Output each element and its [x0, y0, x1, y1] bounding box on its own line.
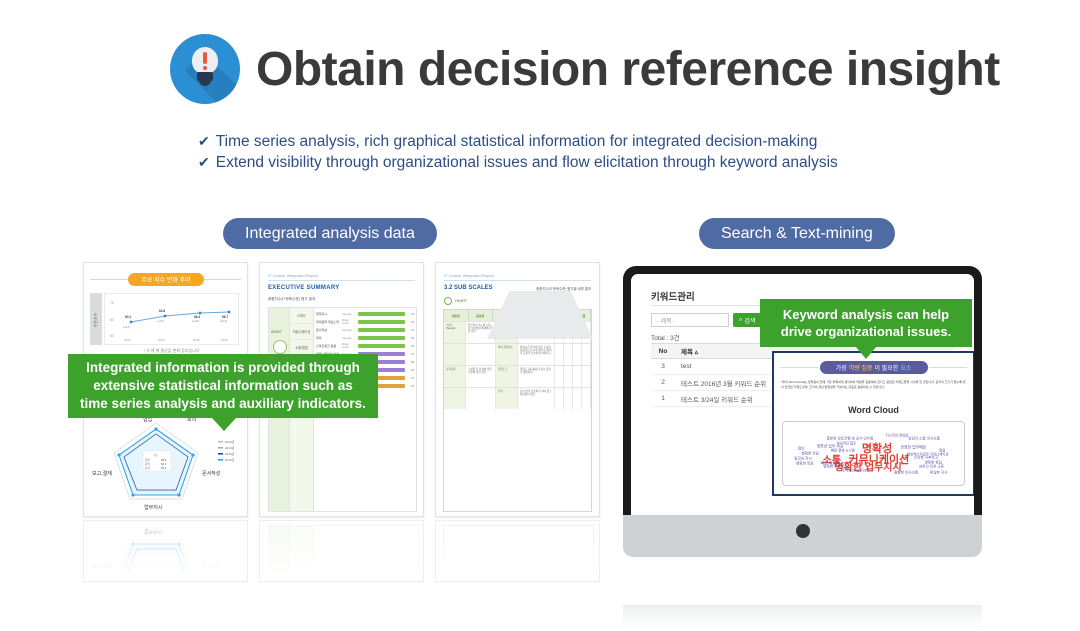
search-input[interactable]: - 제목 -: [651, 313, 729, 327]
table-cell: 구성원 간 신뢰와 협업 수준에 관한 항목: [466, 366, 496, 387]
table-row: 업무지시Strength78: [316, 310, 414, 318]
bullet-text: Extend visibility through organizational…: [216, 152, 838, 173]
doc3-table: 대분류중분류소분류설문문항응답결과가중치 적용 스피드 (Speed)업무처리 …: [443, 309, 592, 512]
badge-label: HEART: [455, 299, 467, 303]
word-cloud-popup: 가장 역량 집중이 필요한 요소 *위의 Word Cloud는 임직원이 현재…: [772, 351, 974, 496]
table-cell: [555, 344, 564, 365]
doc1-y-axis-label: 수준지수: [90, 293, 102, 345]
svg-text:2016년: 2016년: [225, 457, 235, 462]
row-name: 업무지시: [316, 312, 340, 316]
row-value: 69: [407, 337, 414, 340]
popup-description: *위의 Word Cloud는 임직원이 현재 가장 부족하게 생각하여 역량을…: [781, 380, 966, 390]
svg-text:회의: 회의: [145, 462, 150, 466]
callout-tail: [212, 418, 236, 431]
row-bar: [358, 336, 405, 340]
search-button[interactable]: ⌕ 검색: [733, 313, 761, 327]
svg-text:60.1: 60.1: [125, 315, 131, 319]
screen-page-title: 키워드관리: [651, 289, 695, 303]
svg-text:문서작성: 문서작성: [202, 470, 220, 477]
row-bar: [358, 328, 405, 332]
divider: [929, 367, 967, 368]
table-row: 회의Strength69: [316, 334, 414, 342]
row-name: 문서작성: [316, 328, 340, 332]
table-cell: 회의 진행속도: [496, 344, 518, 365]
svg-text:(+4.7): (+4.7): [157, 319, 164, 323]
document-reflection: 주요 지수 변화 추이 수준지수 70 60 50 60.1 64.8 66.4…: [83, 520, 248, 582]
section-label-integrated-analysis-data: Integrated analysis data: [223, 218, 437, 249]
table-cell: [564, 366, 573, 387]
table-cell: 스피드 (Speed): [444, 322, 466, 343]
callout-text: Keyword analysis can help drive organiza…: [768, 306, 964, 340]
check-icon: ✔: [198, 152, 210, 173]
doc3-badge: HEART: [444, 297, 467, 305]
column-header: 중분류: [469, 310, 494, 321]
section-label-search-text-mining: Search & Text-mining: [699, 218, 895, 249]
doc3-right-label: 종합지수(IT문화수준) 평가별 세부 결과: [536, 286, 591, 291]
table-cell: [444, 388, 466, 409]
pill-part: 요소: [900, 363, 911, 372]
row-status: Strength: [342, 337, 356, 340]
badge-circle-icon: [444, 297, 452, 305]
word-cloud-term: 지시자의 책임감: [886, 432, 909, 437]
row-value: 74: [407, 353, 414, 356]
table-cell: 문서 양식 표준화가 되어 있고 재사용이 쉽다: [518, 388, 555, 409]
category-cell: 커뮤니케이션: [290, 324, 313, 340]
lightbulb-alert-icon: [170, 34, 240, 104]
svg-text:60: 60: [110, 318, 114, 322]
table-row: 스마트워크 활용Weak points55: [316, 342, 414, 350]
table-cell: 협업도구를 활용한 정보 공유가 활발하다: [518, 366, 555, 387]
category-cell: 스피드: [290, 308, 313, 324]
exclamation-dot: [203, 66, 207, 70]
y-axis-text: 수준지수: [93, 304, 99, 336]
monitor-logo-dot: [796, 524, 810, 538]
table-row: 문서작성Strength72: [316, 326, 414, 334]
svg-text:문서: 문서: [145, 466, 150, 470]
pill-part: 역량 집중: [849, 363, 873, 372]
table-row: 회의문화 개선노력Weak points61: [316, 318, 414, 326]
list-item: ✔ Time series analysis, rich graphical s…: [198, 131, 838, 152]
table-cell: [564, 388, 573, 409]
callout-tail: [856, 347, 876, 359]
document-reflection: IT Culture Integrated Report 3.2 SUB SCA…: [435, 520, 600, 582]
table-cell: 협업도구: [496, 366, 518, 387]
table-row: 문서문서 양식 표준화가 되어 있고 재사용이 쉽다: [444, 387, 591, 409]
table-cell: 문서: [496, 388, 518, 409]
doc2-title: EXECUTIVE SUMMARY: [268, 285, 340, 291]
table-cell: [564, 344, 573, 365]
svg-text:(+0.3): (+0.3): [220, 319, 227, 323]
svg-text:보고,결재: 보고,결재: [92, 470, 112, 477]
word-cloud-term: 상하간 의견 교류: [919, 465, 944, 470]
svg-text:2014년: 2014년: [225, 445, 235, 450]
row-value: 66: [407, 369, 414, 372]
monitor-reflection: [623, 605, 982, 627]
table-cell: [555, 388, 564, 409]
document-reflection: IT Culture Integrated Report EXECUTIVE S…: [259, 520, 424, 582]
svg-text:58.4: 58.4: [161, 458, 167, 462]
doc3-title: 3.2 SUB SCALES: [444, 285, 493, 291]
svg-text:협업: 협업: [145, 458, 150, 462]
table-cell: [582, 388, 591, 409]
row-value: 52: [407, 385, 414, 388]
search-button-label: 검색: [744, 316, 755, 325]
svg-text:2014: 2014: [158, 338, 165, 342]
row-bar: [358, 320, 405, 324]
total-count-label: Total : 3건: [651, 332, 680, 342]
svg-text:70: 70: [110, 301, 114, 305]
callout-text: Integrated information is provided throu…: [78, 359, 368, 413]
svg-text:(+4.7): (+4.7): [123, 325, 130, 329]
column-header-title-label: 제목: [681, 349, 693, 356]
svg-text:2015년: 2015년: [225, 451, 235, 456]
magnifier-icon: ⌕: [739, 317, 742, 324]
cell-no: 1: [651, 395, 675, 402]
callout-keyword-analysis: Keyword analysis can help drive organiza…: [760, 299, 972, 347]
divider: [90, 279, 130, 280]
row-value: 70: [407, 377, 414, 380]
word-cloud-term: 명확한 목표: [796, 461, 814, 466]
row-value: 72: [407, 329, 414, 332]
svg-text:50: 50: [110, 334, 114, 338]
sort-icon[interactable]: ▵: [695, 349, 698, 356]
list-item: ✔ Extend visibility through organization…: [198, 152, 838, 173]
table-cell: [444, 344, 466, 365]
pill-part: 가장: [836, 363, 847, 372]
svg-text:2016: 2016: [221, 338, 228, 342]
row-status: Weak points: [342, 319, 356, 325]
divider: [780, 367, 818, 368]
popup-title-pill: 가장 역량 집중이 필요한 요소: [820, 361, 928, 374]
svg-text:66.4: 66.4: [194, 315, 200, 319]
column-header-no[interactable]: No: [651, 348, 675, 355]
doc2-group-badge: [273, 340, 287, 354]
row-name: 회의: [316, 336, 340, 340]
reflection-fade: [260, 521, 423, 581]
page-title: Obtain decision reference insight: [256, 42, 1000, 97]
row-value: 78: [407, 313, 414, 316]
word-cloud-title: Word Cloud: [774, 405, 973, 415]
word-cloud-term: 빠른 결재 시스템: [831, 448, 855, 453]
svg-text:2015: 2015: [193, 338, 200, 342]
svg-text:64.8: 64.8: [159, 309, 165, 313]
divider: [201, 279, 241, 280]
doc1-line-chart: 70 60 50 60.1 64.8 66.4 66.7 (+4.7) (+4.…: [104, 293, 239, 345]
svg-text:2013년: 2013년: [225, 439, 235, 444]
doc2-group-label: HEART: [271, 330, 282, 334]
callout-integrated-information: Integrated information is provided throu…: [68, 354, 378, 418]
reflection-fade: [84, 521, 247, 581]
svg-text:구분: 구분: [153, 453, 158, 457]
row-name: 회의문화 개선노력: [316, 320, 340, 324]
word-cloud-term: 원활한 의사소통: [894, 471, 918, 476]
table-cell: [555, 366, 564, 387]
doc2-subtitle: 종합지수(IT문화수준) 평가 결과: [268, 297, 315, 302]
svg-text:60.3: 60.3: [161, 466, 167, 470]
bullet-text: Time series analysis, rich graphical sta…: [216, 131, 818, 152]
table-cell: [582, 344, 591, 365]
column-header: 대분류: [444, 310, 469, 321]
table-cell: [466, 388, 496, 409]
svg-text:62.1: 62.1: [161, 462, 167, 466]
row-bar: [358, 312, 405, 316]
row-bar: [358, 344, 405, 348]
pill-part: 이 필요한: [875, 363, 899, 372]
table-cell: [573, 366, 582, 387]
word-cloud: 명확성커뮤니케이션소통명확한 업무지시지시자의 책임감충분한 검토진행 및 공식…: [782, 421, 965, 486]
table-cell: [573, 344, 582, 365]
row-status: Weak points: [342, 343, 356, 349]
doc1-section-pill: 주요 지수 변화 추이: [128, 273, 204, 286]
table-row: 회의 진행속도회의시간 준수와 결론 도출이 효율적으로 이루어진다 / 회의록…: [444, 343, 591, 365]
row-value: 61: [407, 321, 414, 324]
word-cloud-term: 조직원의 실천의지: [842, 469, 869, 474]
row-value: 55: [407, 345, 414, 348]
row-value: 58: [407, 361, 414, 364]
reflection-fade: [436, 521, 599, 581]
svg-text:66.7: 66.7: [222, 315, 228, 319]
monitor-chin: [623, 515, 982, 557]
table-cell: 조직문화: [444, 366, 466, 387]
check-icon: ✔: [198, 131, 210, 152]
row-status: Strength: [342, 313, 356, 316]
svg-text:2013: 2013: [124, 338, 131, 342]
doc2-breadcrumb: IT Culture Integrated Report: [268, 273, 415, 281]
row-status: Strength: [342, 329, 356, 332]
word-cloud-term: 확실한 지시: [930, 471, 948, 476]
table-cell: 회의시간 준수와 결론 도출이 효율적으로 이루어진다 / 회의록 공유가 신속…: [518, 344, 555, 365]
feature-bullet-list: ✔ Time series analysis, rich graphical s…: [198, 131, 838, 173]
table-row: 조직문화구성원 간 신뢰와 협업 수준에 관한 항목협업도구협업도구를 활용한 …: [444, 365, 591, 387]
cell-no: 3: [651, 363, 675, 370]
table-cell: [466, 344, 496, 365]
svg-text:업무지시: 업무지시: [144, 504, 162, 511]
cell-no: 2: [651, 379, 675, 386]
line-chart-svg: 70 60 50 60.1 64.8 66.4 66.7 (+4.7) (+4.…: [105, 294, 238, 344]
exclamation-bar: [203, 52, 207, 64]
word-cloud-term: 협의: [798, 445, 804, 450]
table-cell: [573, 388, 582, 409]
table-cell: [582, 366, 591, 387]
page-header: Obtain decision reference insight: [170, 34, 1000, 104]
word-cloud-term: 담당자 소통 의사소통: [908, 437, 940, 442]
svg-text:(+1.6): (+1.6): [192, 319, 199, 323]
doc3-breadcrumb: IT Culture Integrated Report: [444, 273, 591, 281]
word-cloud-term: 공정한 업무배분: [901, 445, 927, 450]
row-name: 스마트워크 활용: [316, 344, 340, 348]
